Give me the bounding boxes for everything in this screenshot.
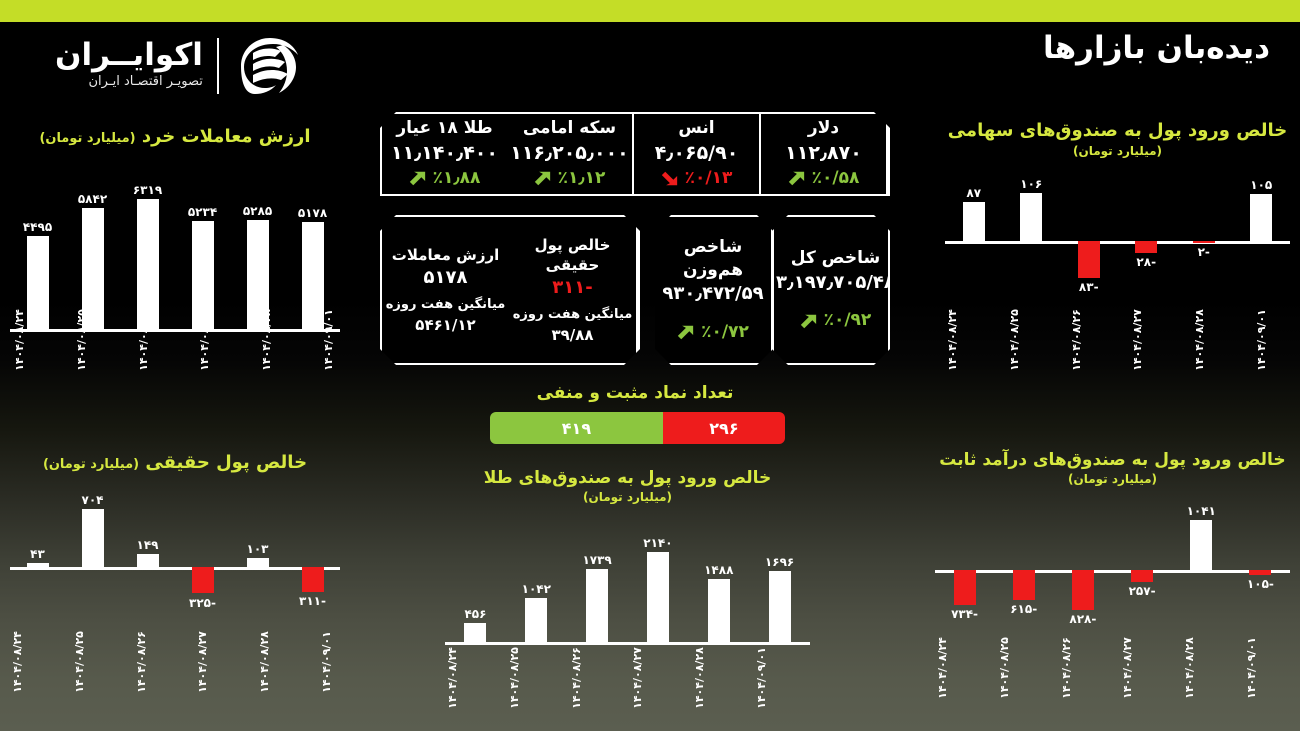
- chart-bar[interactable]: [1131, 570, 1153, 582]
- card-sub-label: میانگین هفت روزه: [513, 306, 633, 325]
- chart-title: ارزش معاملات خرد (میلیارد تومان): [10, 126, 340, 149]
- chart-bars: ۴۳۷۰۴۱۴۹-۳۲۵۱۰۳-۳۱۱: [10, 489, 340, 614]
- index-card-total[interactable]: شاخص کل ۳٫۱۹۷٫۷۰۵/۴۸ ٪۰/۹۲: [774, 217, 897, 363]
- chart-bar[interactable]: [192, 567, 214, 594]
- negative-symbols-count: ۲۹۶: [709, 419, 738, 438]
- arrow-up-icon: [409, 170, 426, 187]
- negative-symbols-segment[interactable]: ۲۹۶: [663, 412, 785, 444]
- chart-bar-slot: ۴۵۶: [445, 532, 506, 642]
- price-card-dollar[interactable]: دلار ۱۱۲٫۸۷۰ ٪۰/۵۸: [761, 114, 888, 194]
- chart-title: خالص ورود پول به صندوق‌های درآمد ثابت: [935, 450, 1290, 471]
- chart-bars: ۴۴۹۵۵۸۴۲۶۳۱۹۵۲۳۴۵۲۸۵۵۱۷۸: [10, 179, 340, 329]
- chart-x-label-slot: ۱۴۰۴/۰۸/۲۸: [692, 648, 754, 708]
- chart-x-label: ۱۴۰۴/۰۸/۲۶: [569, 647, 629, 709]
- card-change-text: ٪۱٫۱۲: [558, 167, 606, 191]
- chart-x-label: ۱۴۰۴/۰۹/۰۱: [1255, 309, 1300, 371]
- chart-x-label: ۱۴۰۴/۰۹/۰۱: [1245, 637, 1300, 699]
- chart-bar-label: -۶۱۵: [1010, 602, 1037, 616]
- market-price-cards: طلا ۱۸ عیار ۱۱٫۱۴۰٫۴۰۰ ٪۱٫۸۸ سکه امامی ۱…: [380, 112, 890, 196]
- chart-bar-slot: ۱۴۹: [120, 489, 175, 614]
- card-value: -۳۱۱: [552, 275, 592, 300]
- chart-plot-area: ۸۷۱۰۶-۸۳-۲۸-۲۱۰۵: [945, 173, 1290, 298]
- money-flow-cards: ارزش معاملات ۵۱۷۸ میانگین هفت روزه ۵۴۶۱/…: [380, 215, 640, 365]
- chart-x-label: ۱۴۰۴/۰۸/۲۷: [196, 631, 256, 693]
- chart-bar-label: -۲۸: [1136, 255, 1156, 269]
- card-change: ٪۱٫۸۸: [409, 167, 481, 191]
- card-name: طلا ۱۸ عیار: [396, 117, 492, 140]
- chart-bar-label: ۱۰۴۱: [1187, 504, 1216, 518]
- chart-bar[interactable]: [27, 563, 49, 567]
- positive-symbols-count: ۴۱۹: [562, 419, 591, 438]
- index-cards: شاخص کل ۳٫۱۹۷٫۷۰۵/۴۸ ٪۰/۹۲: [772, 215, 890, 365]
- chart-bar-slot: ۱۰۳: [230, 489, 285, 614]
- chart-bar[interactable]: [1020, 193, 1042, 241]
- card-name: انس: [678, 117, 714, 140]
- chart-x-label-slot: ۱۴۰۴/۰۸/۲۵: [72, 312, 134, 368]
- chart-zero-axis: [445, 642, 810, 645]
- chart-x-label-slot: ۱۴۰۴/۰۸/۲۵: [1007, 310, 1069, 370]
- chart-x-label-slot: ۱۴۰۴/۰۸/۲۷: [1130, 310, 1192, 370]
- chart-bar-slot: -۳۱۱: [285, 489, 340, 614]
- positive-symbols-segment[interactable]: ۴۱۹: [490, 412, 663, 444]
- chart-bar-label: ۱۴۹: [137, 538, 159, 552]
- chart-title: خالص ورود پول به صندوق‌های طلا: [445, 468, 810, 489]
- chart-title-text: ارزش معاملات خرد: [142, 126, 311, 147]
- chart-bar-label: ۱۶۹۶: [765, 555, 794, 569]
- chart-bar[interactable]: [1249, 570, 1271, 575]
- chart-bar-slot: ۸۷: [945, 173, 1003, 298]
- chart-bar-label: ۵۲۸۵: [243, 204, 272, 218]
- chart-x-label-slot: ۱۴۰۴/۰۹/۰۱: [319, 312, 381, 368]
- arrow-up-icon: [800, 313, 817, 330]
- chart-x-label: ۱۴۰۴/۰۸/۲۷: [198, 309, 254, 371]
- chart-x-label: ۱۴۰۴/۰۸/۲۷: [1131, 309, 1191, 371]
- chart-x-label: ۱۴۰۴/۰۸/۲۴: [13, 309, 69, 371]
- chart-bar-label: ۱۰۵: [1250, 178, 1272, 192]
- arrow-up-icon: [788, 170, 805, 187]
- chart-bar[interactable]: [247, 558, 269, 567]
- chart-bar-label: -۳۱۱: [299, 594, 326, 608]
- chart-bar-slot: -۶۱۵: [994, 500, 1053, 630]
- chart-x-label-slot: ۱۴۰۴/۰۹/۰۱: [1244, 638, 1300, 698]
- chart-x-label: ۱۴۰۴/۰۸/۲۸: [258, 631, 318, 693]
- chart-x-label: ۱۴۰۴/۰۸/۲۵: [75, 309, 131, 371]
- chart-bar-slot: ۱۰۴۱: [1172, 500, 1231, 630]
- chart-bar[interactable]: [954, 570, 976, 605]
- chart-bar-label: ۱۰۴۲: [522, 582, 551, 596]
- chart-x-label-slot: ۱۴۰۴/۰۸/۲۸: [257, 312, 319, 368]
- chart-x-label-slot: ۱۴۰۴/۰۸/۲۵: [997, 638, 1059, 698]
- chart-bar-label: ۱۴۸۸: [704, 563, 733, 577]
- chart-bar-label: -۸۲۸: [1069, 612, 1096, 626]
- chart-bar-slot: ۲۱۴۰: [628, 532, 689, 642]
- chart-plot-area: ۴۴۹۵۵۸۴۲۶۳۱۹۵۲۳۴۵۲۸۵۵۱۷۸: [10, 179, 340, 329]
- chart-bar-label: ۸۷: [966, 186, 981, 200]
- chart-x-label: ۱۴۰۴/۰۸/۲۶: [1059, 637, 1119, 699]
- dashboard-root: اکوایــران تصویـر اقتصـاد ایـران دیده‌با…: [0, 0, 1300, 731]
- chart-bar-slot: ۵۸۴۲: [65, 179, 120, 329]
- chart-x-label-slot: ۱۴۰۴/۰۸/۲۷: [630, 648, 692, 708]
- chart-bar-slot: ۱۰۵: [1233, 173, 1291, 298]
- chart-bar-slot: ۵۲۳۴: [175, 179, 230, 329]
- price-card-ounce[interactable]: انس ۴٫۰۶۵/۹۰ ٪۰/۱۳: [634, 114, 761, 194]
- chart-bar-slot: ۱۶۹۶: [749, 532, 810, 642]
- chart-bar[interactable]: [1072, 570, 1094, 610]
- chart-x-label: ۱۴۰۴/۰۸/۲۶: [136, 309, 192, 371]
- chart-bar-label: ۱۰۶: [1020, 177, 1042, 191]
- chart-x-label: ۱۴۰۴/۰۸/۲۸: [1183, 637, 1243, 699]
- chart-bars: ۸۷۱۰۶-۸۳-۲۸-۲۱۰۵: [945, 173, 1290, 298]
- chart-bar[interactable]: [1193, 241, 1215, 243]
- logo-subtitle: تصویـر اقتصـاد ایـران: [55, 72, 203, 93]
- chart-x-label: ۱۴۰۴/۰۹/۰۱: [320, 631, 380, 693]
- index-card-equalweight-box: شاخص هم‌وزن ۹۳۰٫۴۷۲/۵۹ ٪۰/۷۲: [655, 215, 773, 365]
- chart-bar[interactable]: [137, 554, 159, 566]
- chart-x-label-slot: ۱۴۰۴/۰۸/۲۴: [10, 632, 72, 692]
- chart-bar[interactable]: [1013, 570, 1035, 600]
- chart-title: خالص پول حقیقی (میلیارد تومان): [10, 452, 340, 475]
- chart-x-label: ۱۴۰۴/۰۸/۲۷: [631, 647, 691, 709]
- arrow-up-icon: [677, 324, 694, 341]
- chart-bar-slot: -۸۳: [1060, 173, 1118, 298]
- chart-bar-slot: -۷۳۴: [935, 500, 994, 630]
- chart-subtitle: (میلیارد تومان): [445, 490, 810, 506]
- card-value: ۱۱۶٫۲۰۵٫۰۰۰: [510, 140, 629, 167]
- chart-x-label-slot: ۱۴۰۴/۰۸/۲۴: [945, 310, 1007, 370]
- chart-bar[interactable]: [1078, 241, 1100, 278]
- chart-bar-label: -۷۳۴: [951, 607, 978, 621]
- chart-bar-label: ۴۵۶: [464, 607, 486, 621]
- chart-x-label: ۱۴۰۴/۰۸/۲۵: [508, 647, 568, 709]
- card-sub-value: ۵۴۶۱/۱۲: [415, 315, 475, 335]
- chart-x-label-slot: ۱۴۰۴/۰۸/۲۷: [1120, 638, 1182, 698]
- card-value: ۳٫۱۹۷٫۷۰۵/۴۸: [776, 270, 895, 295]
- symbol-count-bar[interactable]: ۴۱۹ ۲۹۶: [490, 412, 785, 444]
- card-change: ٪۰/۷۲: [677, 321, 749, 345]
- chart-bar-slot: ۵۱۷۸: [285, 179, 340, 329]
- symbol-count-title-wrap: تعداد نماد مثبت و منفی: [485, 383, 785, 403]
- chart-bar-label: -۳۲۵: [189, 596, 216, 610]
- chart-x-label: ۱۴۰۴/۰۸/۲۷: [1121, 637, 1181, 699]
- chart-plot-area: ۴۵۶۱۰۴۲۱۷۳۹۲۱۴۰۱۴۸۸۱۶۹۶: [445, 532, 810, 642]
- logo-divider: [217, 38, 219, 94]
- card-name: سکه امامی: [523, 117, 616, 140]
- logo-title: اکوایــران: [55, 39, 203, 72]
- chart-bar-slot: ۴۳: [10, 489, 65, 614]
- chart-x-label-slot: ۱۴۰۴/۰۸/۲۵: [507, 648, 569, 708]
- chart-bar-slot: ۱۰۶: [1003, 173, 1061, 298]
- chart-bar-slot: ۵۲۸۵: [230, 179, 285, 329]
- chart-x-label: ۱۴۰۴/۰۸/۲۸: [693, 647, 753, 709]
- chart-panel-fixed-income-funds: خالص ورود پول به صندوق‌های درآمد ثابت (م…: [935, 450, 1290, 700]
- chart-title-text: خالص پول حقیقی: [145, 452, 307, 473]
- chart-bar[interactable]: [464, 623, 486, 642]
- chart-subtitle: (میلیارد تومان): [945, 144, 1290, 160]
- card-sub-value: ۳۹/۸۸: [551, 325, 593, 345]
- chart-x-label: ۱۴۰۴/۰۸/۲۶: [134, 631, 194, 693]
- chart-bar[interactable]: [586, 569, 608, 642]
- chart-x-label-slot: ۱۴۰۴/۰۸/۲۸: [1192, 310, 1254, 370]
- chart-x-label-slot: ۱۴۰۴/۰۸/۲۶: [134, 632, 196, 692]
- chart-bar[interactable]: [708, 579, 730, 642]
- chart-bar[interactable]: [769, 571, 791, 642]
- chart-bar[interactable]: [82, 509, 104, 567]
- index-card-equalweight[interactable]: شاخص هم‌وزن ۹۳۰٫۴۷۲/۵۹ ٪۰/۷۲: [655, 217, 771, 363]
- symbol-count-title: تعداد نماد مثبت و منفی: [485, 383, 785, 403]
- card-change: ٪۰/۹۲: [800, 309, 872, 333]
- chart-x-axis-labels: ۱۴۰۴/۰۸/۲۴۱۴۰۴/۰۸/۲۵۱۴۰۴/۰۸/۲۶۱۴۰۴/۰۸/۲۷…: [10, 312, 340, 368]
- card-change: ٪۰/۵۸: [788, 167, 860, 191]
- chart-bars: -۷۳۴-۶۱۵-۸۲۸-۲۵۷۱۰۴۱-۱۰۵: [935, 500, 1290, 630]
- chart-bar[interactable]: [647, 552, 669, 642]
- chart-x-label: ۱۴۰۴/۰۸/۲۸: [1193, 309, 1253, 371]
- chart-bar-label: ۱۷۳۹: [582, 553, 611, 567]
- chart-x-axis-labels: ۱۴۰۴/۰۸/۲۴۱۴۰۴/۰۸/۲۵۱۴۰۴/۰۸/۲۶۱۴۰۴/۰۸/۲۷…: [10, 632, 340, 692]
- chart-x-label: ۱۴۰۴/۰۸/۲۵: [1008, 309, 1068, 371]
- card-name: ارزش معاملات: [392, 245, 499, 265]
- card-value: ۵۱۷۸: [424, 265, 468, 290]
- chart-x-axis-labels: ۱۴۰۴/۰۸/۲۴۱۴۰۴/۰۸/۲۵۱۴۰۴/۰۸/۲۶۱۴۰۴/۰۸/۲۷…: [945, 310, 1290, 370]
- chart-title: خالص ورود پول به صندوق‌های سهامی: [945, 120, 1290, 143]
- chart-x-label-slot: ۱۴۰۴/۰۸/۲۸: [257, 632, 319, 692]
- chart-panel-gold-funds: خالص ورود پول به صندوق‌های طلا (میلیارد …: [445, 468, 810, 718]
- chart-x-label-slot: ۱۴۰۴/۰۸/۲۶: [1059, 638, 1121, 698]
- money-card-real-money[interactable]: خالص پول حقیقی -۳۱۱ میانگین هفت روزه ۳۹/…: [509, 217, 638, 363]
- chart-bar[interactable]: [302, 567, 324, 593]
- chart-bar-label: ۲۱۴۰: [643, 536, 672, 550]
- chart-bar-slot: ۱۰۴۲: [506, 532, 567, 642]
- chart-bar-slot: ۱۷۳۹: [567, 532, 628, 642]
- chart-bar-slot: ۱۴۸۸: [688, 532, 749, 642]
- chart-bar-label: ۴۳: [30, 547, 45, 561]
- chart-bars: ۴۵۶۱۰۴۲۱۷۳۹۲۱۴۰۱۴۸۸۱۶۹۶: [445, 532, 810, 642]
- chart-bar-label: -۲: [1198, 245, 1210, 259]
- money-card-trade-value[interactable]: ارزش معاملات ۵۱۷۸ میانگین هفت روزه ۵۴۶۱/…: [382, 217, 509, 363]
- chart-plot-area: -۷۳۴-۶۱۵-۸۲۸-۲۵۷۱۰۴۱-۱۰۵: [935, 500, 1290, 630]
- page-title: دیده‌بان بازارها: [1043, 30, 1270, 66]
- chart-x-label: ۱۴۰۴/۰۸/۲۵: [73, 631, 133, 693]
- card-value: ۱۱٫۱۴۰٫۴۰۰: [391, 140, 498, 167]
- chart-bar-slot: ۶۳۱۹: [120, 179, 175, 329]
- chart-bar-label: ۱۰۳: [247, 542, 269, 556]
- chart-bar-label: -۱۰۵: [1247, 577, 1274, 591]
- brand-logo[interactable]: اکوایــران تصویـر اقتصـاد ایـران: [55, 22, 305, 110]
- price-card-coin[interactable]: سکه امامی ۱۱۶٫۲۰۵٫۰۰۰ ٪۱٫۱۲: [507, 114, 634, 194]
- card-name: شاخص کل: [791, 247, 881, 270]
- chart-bar-label: ۴۴۹۵: [23, 220, 52, 234]
- card-change-text: ٪۰/۷۲: [701, 321, 749, 345]
- chart-x-label: ۱۴۰۴/۰۸/۲۴: [11, 631, 71, 693]
- chart-plot-area: ۴۳۷۰۴۱۴۹-۳۲۵۱۰۳-۳۱۱: [10, 489, 340, 614]
- chart-subtitle: (میلیارد تومان): [935, 472, 1290, 488]
- card-change-text: ٪۰/۹۲: [824, 309, 872, 333]
- arrow-down-icon: [661, 170, 678, 187]
- chart-bar-slot: -۸۲۸: [1053, 500, 1112, 630]
- chart-bar[interactable]: [1190, 520, 1212, 570]
- card-change: ٪۱٫۱۲: [534, 167, 606, 191]
- card-value: ۴٫۰۶۵/۹۰: [655, 140, 739, 167]
- chart-x-label: ۱۴۰۴/۰۸/۲۸: [260, 309, 316, 371]
- chart-bar[interactable]: [963, 202, 985, 241]
- chart-x-label-slot: ۱۴۰۴/۰۹/۰۱: [1254, 310, 1300, 370]
- chart-x-label: ۱۴۰۴/۰۸/۲۴: [446, 647, 506, 709]
- chart-x-label: ۱۴۰۴/۰۹/۰۱: [322, 309, 378, 371]
- chart-bar-slot: -۲۸: [1118, 173, 1176, 298]
- chart-x-label-slot: ۱۴۰۴/۰۸/۲۴: [935, 638, 997, 698]
- card-change: ٪۰/۱۳: [661, 167, 733, 191]
- chart-x-label-slot: ۱۴۰۴/۰۸/۲۷: [195, 312, 257, 368]
- chart-bar-label: ۵۱۷۸: [298, 206, 327, 220]
- chart-x-label-slot: ۱۴۰۴/۰۹/۰۱: [319, 632, 381, 692]
- chart-bar-label: ۵۸۴۲: [78, 192, 107, 206]
- chart-panel-equity-funds: خالص ورود پول به صندوق‌های سهامی (میلیار…: [945, 120, 1290, 370]
- chart-bar[interactable]: [525, 598, 547, 642]
- chart-x-label: ۱۴۰۴/۰۸/۲۴: [936, 637, 996, 699]
- logo-text: اکوایــران تصویـر اقتصـاد ایـران: [55, 39, 203, 92]
- chart-x-label-slot: ۱۴۰۴/۰۸/۲۴: [10, 312, 72, 368]
- chart-x-label-slot: ۱۴۰۴/۰۸/۲۵: [72, 632, 134, 692]
- chart-bar-slot: -۳۲۵: [175, 489, 230, 614]
- chart-x-label-slot: ۱۴۰۴/۰۸/۲۶: [134, 312, 196, 368]
- chart-panel-retail-trade-value: ارزش معاملات خرد (میلیارد تومان) ۴۴۹۵۵۸۴…: [10, 126, 340, 366]
- chart-bar-label: -۸۳: [1079, 280, 1099, 294]
- chart-bar-slot: -۲۵۷: [1112, 500, 1171, 630]
- chart-bar-slot: -۱۰۵: [1231, 500, 1290, 630]
- card-name: دلار: [808, 117, 839, 140]
- card-value: ۱۱۲٫۸۷۰: [785, 140, 862, 167]
- chart-bar-slot: ۴۴۹۵: [10, 179, 65, 329]
- chart-bar-label: ۵۲۳۴: [188, 205, 217, 219]
- card-sub-label: میانگین هفت روزه: [386, 296, 506, 315]
- chart-x-label-slot: ۱۴۰۴/۰۸/۲۷: [195, 632, 257, 692]
- chart-x-label-slot: ۱۴۰۴/۰۸/۲۸: [1182, 638, 1244, 698]
- chart-unit-text: (میلیارد تومان): [43, 457, 139, 472]
- chart-x-label-slot: ۱۴۰۴/۰۹/۰۱: [754, 648, 816, 708]
- card-value: ۹۳۰٫۴۷۲/۵۹: [662, 281, 763, 306]
- arrow-up-icon: [534, 170, 551, 187]
- chart-bar-label: ۷۰۴: [82, 493, 104, 507]
- chart-x-label: ۱۴۰۴/۰۸/۲۴: [946, 309, 1006, 371]
- chart-x-label: ۱۴۰۴/۰۸/۲۵: [998, 637, 1058, 699]
- chart-bar-slot: -۲: [1175, 173, 1233, 298]
- card-change-text: ٪۰/۱۳: [685, 167, 733, 191]
- chart-x-axis-labels: ۱۴۰۴/۰۸/۲۴۱۴۰۴/۰۸/۲۵۱۴۰۴/۰۸/۲۶۱۴۰۴/۰۸/۲۷…: [445, 648, 810, 708]
- card-change-text: ٪۱٫۸۸: [433, 167, 481, 191]
- top-accent-bar: [0, 0, 1300, 22]
- chart-x-label-slot: ۱۴۰۴/۰۸/۲۶: [569, 648, 631, 708]
- card-change-text: ٪۰/۵۸: [812, 167, 860, 191]
- ecoiran-logo-icon: [233, 35, 305, 97]
- chart-x-label: ۱۴۰۴/۰۸/۲۶: [1069, 309, 1129, 371]
- chart-x-label-slot: ۱۴۰۴/۰۸/۲۴: [445, 648, 507, 708]
- chart-unit-text: (میلیارد تومان): [39, 131, 135, 146]
- chart-bar-slot: ۷۰۴: [65, 489, 120, 614]
- chart-bar[interactable]: [1250, 194, 1272, 241]
- card-name: خالص پول حقیقی: [511, 235, 634, 276]
- card-name: شاخص هم‌وزن: [657, 236, 769, 282]
- chart-x-label: ۱۴۰۴/۰۹/۰۱: [755, 647, 815, 709]
- chart-bar-label: -۲۵۷: [1129, 584, 1156, 598]
- chart-bar-label: ۶۳۱۹: [133, 183, 162, 197]
- price-card-gold18[interactable]: طلا ۱۸ عیار ۱۱٫۱۴۰٫۴۰۰ ٪۱٫۸۸: [382, 114, 507, 194]
- chart-x-axis-labels: ۱۴۰۴/۰۸/۲۴۱۴۰۴/۰۸/۲۵۱۴۰۴/۰۸/۲۶۱۴۰۴/۰۸/۲۷…: [935, 638, 1290, 698]
- chart-bar[interactable]: [1135, 241, 1157, 254]
- chart-x-label-slot: ۱۴۰۴/۰۸/۲۶: [1069, 310, 1131, 370]
- chart-panel-real-money: خالص پول حقیقی (میلیارد تومان) ۴۳۷۰۴۱۴۹-…: [10, 452, 340, 702]
